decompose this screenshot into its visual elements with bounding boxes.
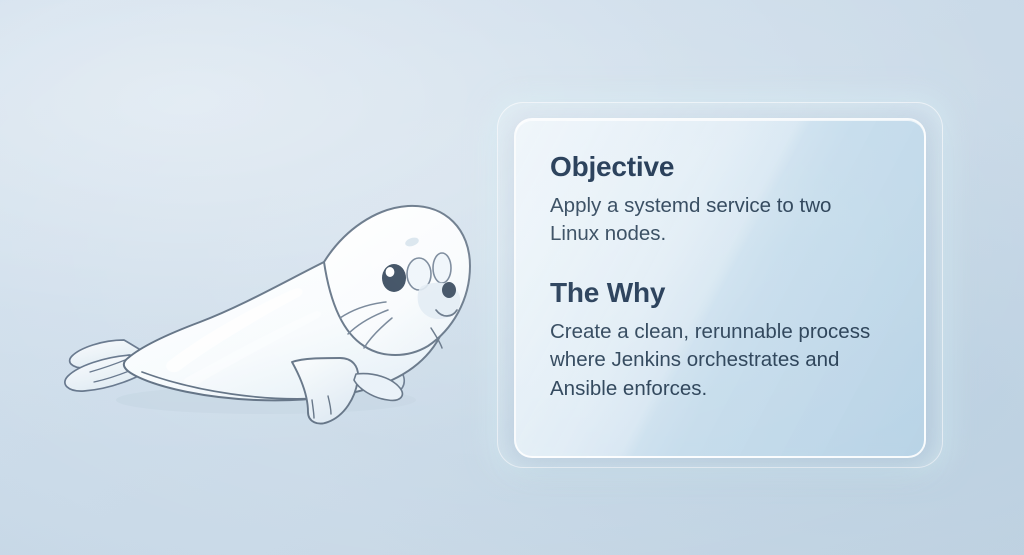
section-the-why-heading: The Why: [550, 278, 894, 309]
seal-muzzle-oval-right: [433, 253, 451, 283]
seal-eye-left-glint: [386, 267, 395, 277]
seal-illustration: [56, 150, 476, 430]
section-the-why-body: Create a clean, rerunnable process where…: [550, 318, 880, 403]
seal-eye-left: [382, 264, 406, 292]
section-the-why: The Why Create a clean, rerunnable proce…: [550, 278, 894, 403]
seal-nose: [442, 282, 456, 298]
info-card: Objective Apply a systemd service to two…: [514, 118, 926, 458]
slide-canvas: Objective Apply a systemd service to two…: [0, 0, 1024, 555]
card-content: Objective Apply a systemd service to two…: [516, 120, 924, 403]
section-objective-heading: Objective: [550, 152, 894, 183]
section-objective: Objective Apply a systemd service to two…: [550, 152, 894, 248]
section-objective-body: Apply a systemd service to two Linux nod…: [550, 192, 880, 249]
